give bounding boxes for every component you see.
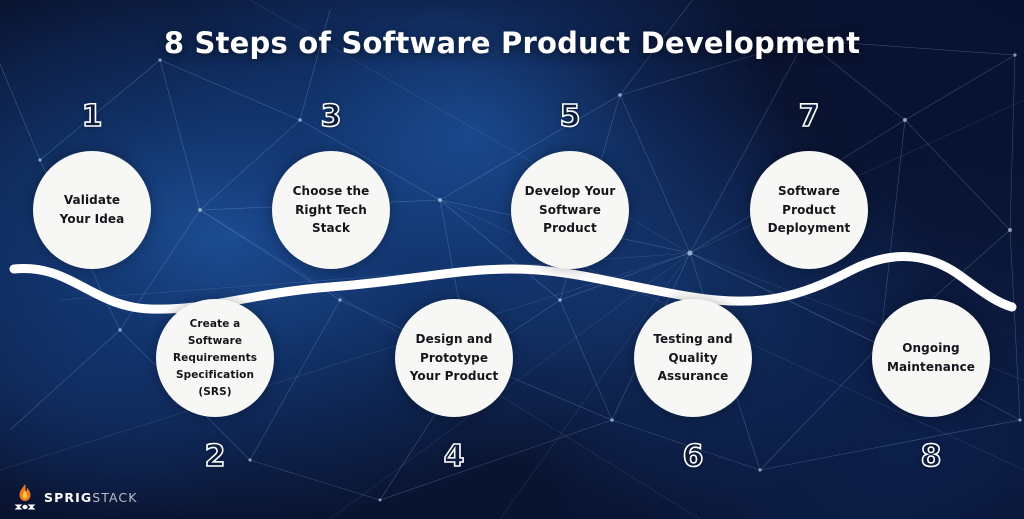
step-number-8: 8 <box>901 442 961 472</box>
step-number-1: 1 <box>62 102 122 132</box>
step-circle-6[interactable]: Testing andQualityAssurance <box>634 299 752 417</box>
logo-name-bold: SPRIG <box>44 490 92 505</box>
step-number-7: 7 <box>779 102 839 132</box>
step-label-5: Develop YourSoftwareProduct <box>518 182 623 238</box>
infographic-canvas: 8 Steps of Software Product Development … <box>0 0 1024 519</box>
step-number-4: 4 <box>424 442 484 472</box>
step-circle-7[interactable]: SoftwareProductDeployment <box>750 151 868 269</box>
step-label-4: Design andPrototypeYour Product <box>403 330 506 386</box>
step-number-2: 2 <box>185 442 245 472</box>
step-number-6: 6 <box>663 442 723 472</box>
step-circle-1[interactable]: ValidateYour Idea <box>33 151 151 269</box>
logo-wordmark: SPRIGSTACK <box>44 490 138 505</box>
flame-icon <box>12 483 38 511</box>
step-label-6: Testing andQualityAssurance <box>646 330 739 386</box>
logo-name-light: STACK <box>92 490 137 505</box>
step-circle-3[interactable]: Choose theRight TechStack <box>272 151 390 269</box>
step-circle-8[interactable]: OngoingMaintenance <box>872 299 990 417</box>
step-circle-2[interactable]: Create aSoftwareRequirementsSpecificatio… <box>156 299 274 417</box>
page-title: 8 Steps of Software Product Development <box>0 26 1024 60</box>
step-label-8: OngoingMaintenance <box>880 339 982 376</box>
step-number-3: 3 <box>301 102 361 132</box>
step-label-3: Choose theRight TechStack <box>286 182 377 238</box>
brand-logo[interactable]: SPRIGSTACK <box>12 483 138 511</box>
step-number-5: 5 <box>540 102 600 132</box>
step-circle-5[interactable]: Develop YourSoftwareProduct <box>511 151 629 269</box>
step-label-7: SoftwareProductDeployment <box>761 182 858 238</box>
step-label-2: Create aSoftwareRequirementsSpecificatio… <box>169 316 261 401</box>
step-circle-4[interactable]: Design andPrototypeYour Product <box>395 299 513 417</box>
wave-connector <box>0 235 1024 335</box>
step-label-1: ValidateYour Idea <box>53 191 132 228</box>
